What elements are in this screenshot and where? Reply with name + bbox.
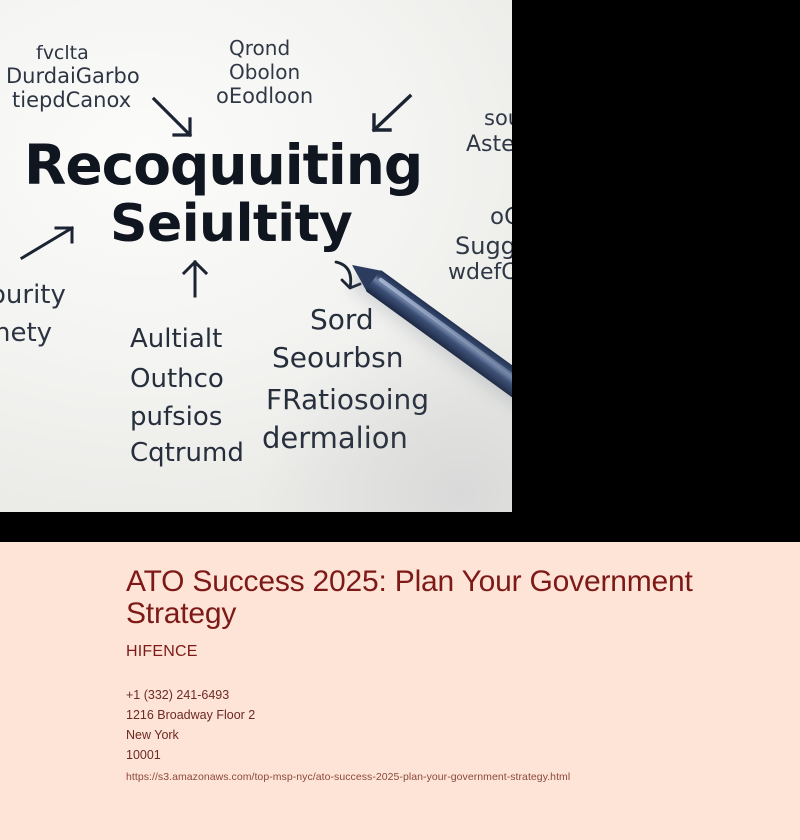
arrow-down-left-icon: [366, 92, 414, 138]
hero-band: fvclta DurdaiGarbo tiepdCanox Qrond Obol…: [0, 0, 800, 542]
contact-city: New York: [126, 725, 762, 745]
sheet-word: dermalion: [262, 424, 408, 453]
arrow-curve-icon: [332, 258, 366, 292]
sheet-word: fvclta: [36, 44, 89, 63]
sheet-word: pufsios: [130, 404, 222, 430]
contact-block: +1 (332) 241-6493 1216 Broadway Floor 2 …: [126, 685, 762, 765]
page-url[interactable]: https://s3.amazonaws.com/top-msp-nyc/ato…: [126, 770, 762, 784]
contact-street: 1216 Broadway Floor 2: [126, 705, 762, 725]
sheet-word: wdefC: [448, 262, 512, 284]
arrow-down-right-icon: [150, 95, 200, 145]
sheet-word: Aultialt: [130, 326, 222, 352]
sheet-word: Sord: [310, 306, 374, 334]
arrow-up-right-icon: [16, 218, 78, 266]
sheet-word: Outhco: [130, 366, 224, 392]
contact-zip: 10001: [126, 745, 762, 765]
sheet-headline: Seiultity: [110, 198, 352, 250]
sheet-word: Obolon: [229, 62, 300, 82]
content-card: ATO Success 2025: Plan Your Government S…: [0, 542, 800, 840]
sheet-word: Qrond: [229, 38, 290, 58]
sheet-word: ourity: [0, 282, 66, 308]
page-root: fvclta DurdaiGarbo tiepdCanox Qrond Obol…: [0, 0, 800, 840]
brand-name: HIFENCE: [126, 643, 762, 661]
sheet-word: Suggork: [455, 234, 512, 258]
sheet-word: FRatiosoing: [266, 386, 429, 414]
sheet-word: tiepdCanox: [12, 90, 131, 111]
sheet-word: DurdaiGarbo: [6, 66, 140, 87]
sheet-word: sou: [484, 108, 512, 129]
page-title: ATO Success 2025: Plan Your Government S…: [126, 566, 762, 631]
sheet-word: Astes: [466, 134, 512, 156]
contact-phone: +1 (332) 241-6493: [126, 685, 762, 705]
sheet-word: nety: [0, 320, 52, 346]
sheet-word: Seourbsn: [272, 344, 404, 372]
sheet-headline: Recoquuiting: [24, 138, 422, 193]
arrow-up-icon: [178, 258, 212, 298]
sheet-word: oEodloon: [216, 86, 313, 107]
sheet-word: Cqtrumd: [130, 440, 244, 466]
hero-photo: fvclta DurdaiGarbo tiepdCanox Qrond Obol…: [0, 0, 512, 512]
sheet-word: oC: [490, 206, 512, 229]
